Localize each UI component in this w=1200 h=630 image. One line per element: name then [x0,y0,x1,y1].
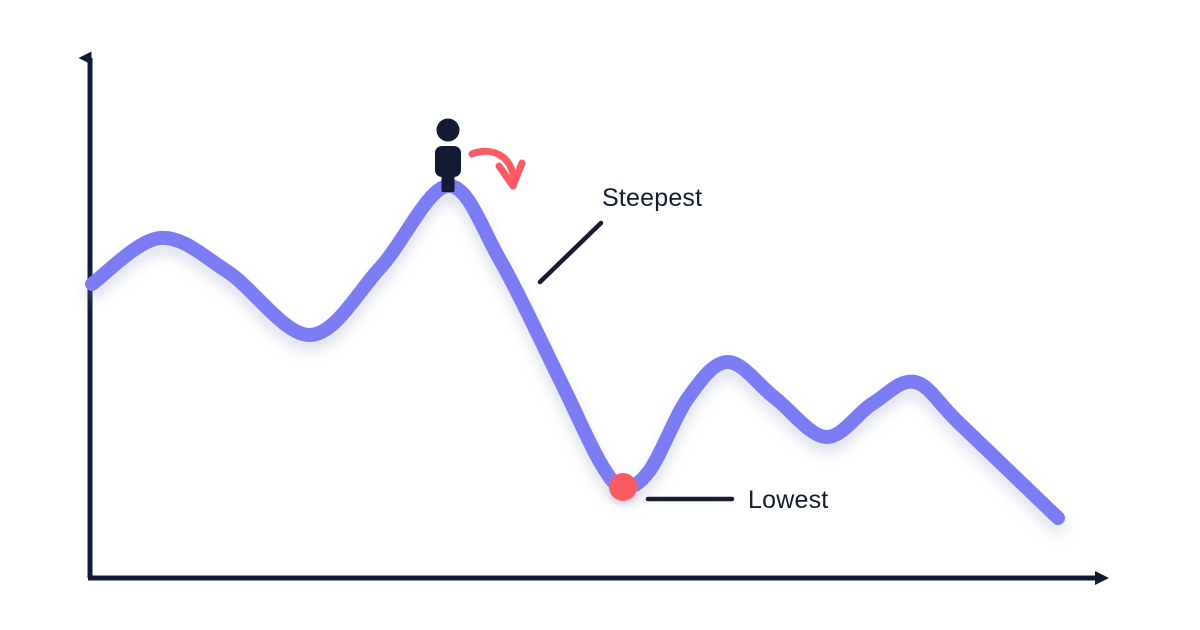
steepest-label: Steepest [602,184,702,212]
curve-diagram-svg: Steepest Lowest [0,0,1200,630]
trend-curve-group [92,186,1058,518]
steepest-leader-line [540,223,601,282]
axes-group [88,58,1096,578]
person-head [437,119,460,142]
diagram-canvas: Steepest Lowest [0,0,1200,630]
annotation-steepest[interactable]: Steepest [540,184,702,282]
curved-arrow-icon [472,151,522,186]
dot-marker-icon[interactable] [609,473,637,501]
person-legs [442,170,455,192]
trend-curve-line [92,186,1058,518]
lowest-label: Lowest [748,486,828,514]
